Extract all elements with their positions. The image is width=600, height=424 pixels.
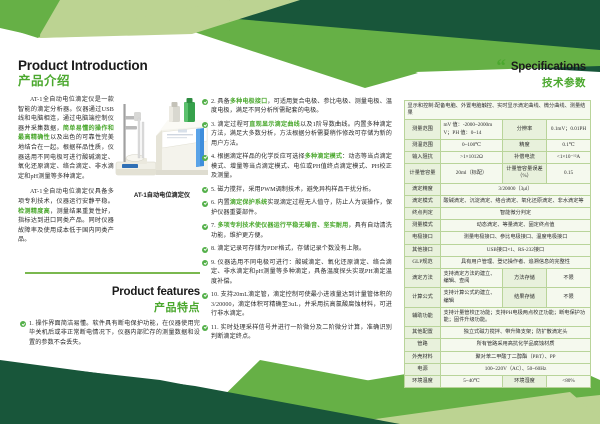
spec-value-cell: 不限: [547, 269, 591, 288]
spec-label-cell: 方法存储: [503, 269, 547, 288]
list-item: 4. 根据滴定样品的化学反应可选择多种滴定模式：动态等当点滴定模式、增量等当点滴…: [202, 153, 392, 181]
list-item: 8. 滴定记录可存储为PDF格式，存储记录个数没有上限。: [202, 245, 392, 254]
spec-value-cell: 支持计量管校正功能；支持PH电极两点校正功能；断电保护功能；固件升级功能。: [441, 307, 591, 326]
specs-table-rows: 测量范围mV 值：-2000~2000mV；PH 值：0~14分辨率0.1mV；…: [405, 120, 591, 388]
specs-note-cell: 显示和控制:配备电脑、外置电脑触控、实时显示滴定曲线、微分曲线、测量结果: [405, 101, 591, 120]
feature-item-8: 8. 滴定记录可存储为PDF格式，存储记录个数没有上限。: [211, 245, 392, 254]
table-row: GLP规范具有用户管理、登记操作者、追溯信息的完整性: [405, 256, 591, 268]
table-row: 测量范围mV 值：-2000~2000mV；PH 值：0~14分辨率0.1mV；…: [405, 120, 591, 139]
check-circle-icon: [20, 321, 26, 327]
spec-label-cell: 计算公式: [405, 288, 441, 307]
specifications-heading: “ Specifications 技术参数: [404, 60, 590, 91]
spec-label-cell: 分辨率: [503, 120, 547, 139]
spec-value-cell: mV 值：-2000~2000mV；PH 值：0~14: [441, 120, 503, 139]
check-circle-icon: [202, 224, 208, 230]
intro-p1-b: 以及出色的可靠性完美地结合在一起。根据样品性质，仪器选用不同电极可进行酸碱滴定、…: [18, 135, 114, 179]
spec-value-cell: 所有管路采用高抗化学品腐蚀材质: [441, 339, 591, 351]
feature-item-3: 3. 滴定过程可直观显示滴定曲线以及1阶导数曲线。内置多种滴定方法，满足大多数分…: [211, 121, 392, 149]
spec-label-cell: 外壳材料: [405, 351, 441, 363]
spec-value-cell: 0.1℃: [547, 139, 591, 151]
spec-value-cell: 具有用户管理、登记操作者、追溯信息的完整性: [441, 256, 591, 268]
table-row: 电源100~220V（AC）、50~60Hz: [405, 363, 591, 375]
product-photo: [112, 96, 212, 188]
table-row: 滴定精度3/20000（3μl）: [405, 183, 591, 195]
features-divider: [25, 272, 200, 274]
check-circle-icon: [202, 247, 208, 253]
spec-value-cell: 聚对苯二甲酸丁二醇酯（PBT）、PP: [441, 351, 591, 363]
deco-bottom-light2: [340, 392, 600, 424]
feature-item-10: 10. 支持20mL滴定管，滴定控制可使最小进液量达到计量管体积的3/20000…: [211, 291, 392, 319]
table-row: 滴定方法支持滴定方法的建立、编辑、查阅方法存储不限: [405, 269, 591, 288]
spec-label-cell: 终点判定: [405, 208, 441, 220]
table-row: 显示和控制:配备电脑、外置电脑触控、实时显示滴定曲线、微分曲线、测量结果: [405, 101, 591, 120]
check-circle-icon: [202, 201, 208, 207]
feature-item-6: 6. 内置滴定保护系统实现滴定过程无人值守，防止人为误操作，保护仪器重要部件。: [211, 199, 392, 218]
intro-paragraph-2: AT-1全自动电位滴定仪具备多项专利技术，仪器运行安静平稳。检测精度高，测量结果…: [18, 188, 114, 246]
table-row: 滴定模式酸碱滴定、沉淀滴定、络合滴定、氧化还原滴定、非水滴定等: [405, 195, 591, 207]
table-row: 测量模式动态滴定、等量滴定、固定终点值: [405, 220, 591, 232]
check-circle-icon: [202, 122, 208, 128]
table-row: 计算公式支持计算公式的建立、编辑结果存储不限: [405, 288, 591, 307]
spec-label-cell: 电源: [405, 363, 441, 375]
spec-label-cell: 结果存储: [503, 288, 547, 307]
table-row: 电极接口测量电极接口、参比电极接口、温度电极接口: [405, 232, 591, 244]
intro-title-cn: 产品介绍: [18, 74, 200, 89]
table-row: 测温范围0~100℃精度0.1℃: [405, 139, 591, 151]
list-item: 5. 磁力搅拌，采用PWM调制技术，避免异构样品干扰分析。: [202, 186, 392, 195]
table-row: 辅助功能支持计量管校正功能；支持PH电极两点校正功能；断电保护功能；固件升级功能…: [405, 307, 591, 326]
spec-label-cell: 其他配置: [405, 327, 441, 339]
spec-value-cell: 支持滴定方法的建立、编辑、查阅: [441, 269, 503, 288]
spec-value-cell: >1×1012Ω: [441, 152, 503, 164]
deco-bottom-light: [330, 395, 600, 424]
table-row: 管路所有管路采用高抗化学品腐蚀材质: [405, 339, 591, 351]
features-title-en: Product features: [18, 285, 200, 300]
table-row: 终点判定智能微分判定: [405, 208, 591, 220]
product-photo-caption: AT-1自动电位滴定仪: [112, 190, 212, 199]
deco-top-green2: [188, 14, 418, 88]
list-item: 3. 滴定过程可直观显示滴定曲线以及1阶导数曲线。内置多种滴定方法，满足大多数分…: [202, 121, 392, 149]
spec-label-cell: 测量模式: [405, 220, 441, 232]
spec-value-cell: 3/20000（3μl）: [441, 183, 591, 195]
feature-item-5: 5. 磁力搅拌，采用PWM调制技术，避免异构样品干扰分析。: [211, 186, 392, 195]
table-row: 其他接口USB接口×1、RS-232接口: [405, 244, 591, 256]
spec-label-cell: 环境湿度: [503, 376, 547, 388]
intro-p2-highlight: 检测精度高: [18, 209, 50, 215]
spec-label-cell: 环境温度: [405, 376, 441, 388]
specs-table-body: 显示和控制:配备电脑、外置电脑触控、实时显示滴定曲线、微分曲线、测量结果: [405, 101, 591, 120]
specifications-section: “ Specifications 技术参数 显示和控制:配备电脑、外置电脑触控、…: [404, 60, 590, 388]
intro-body: AT-1全自动电位滴定仪是一款智能的滴定分析器。仪器通过USB线和电脑相连，通过…: [18, 96, 114, 182]
list-item: 9. 仪器选用不同电极可进行：酸碱滴定、氧化还原滴定、络合滴定、非水滴定和pH测…: [202, 259, 392, 287]
table-row: 外壳材料聚对苯二甲酸丁二醇酯（PBT）、PP: [405, 351, 591, 363]
list-item: 7. 多项专利技术使仪器运行平稳无噪音、坚实耐用，具有自动清洗功能，维护更方便。: [202, 222, 392, 241]
spec-label-cell: 精度: [503, 139, 547, 151]
table-row: 输入阻抗>1×1012Ω补偿电流<1×10⁻¹²A: [405, 152, 591, 164]
feature-item-1-text: 1. 操作界面简洁易懂。软件具有断电保护功能，在仪器使用完毕关机后或非正常断电情…: [29, 320, 200, 348]
list-item: 10. 支持20mL滴定管，滴定控制可使最小进液量达到计量管体积的3/20000…: [202, 291, 392, 319]
features-title-cn: 产品特点: [18, 301, 200, 316]
spec-value-cell: 测量电极接口、参比电极接口、温度电极接口: [441, 232, 591, 244]
spec-label-cell: 滴定精度: [405, 183, 441, 195]
table-row: 计量管容量20ml（标配）计量管容量误差（%）0.15: [405, 164, 591, 183]
feature-item-2: 2. 具备多种电极接口，可适用复合电极、参比电极、测量电极、温度电极，满足不同分…: [211, 98, 392, 117]
deco-bottom-dark2: [0, 362, 390, 424]
spec-label-cell: 测量范围: [405, 120, 441, 139]
spec-label-cell: 计量管容量误差（%）: [503, 164, 547, 183]
spec-value-cell: 0.1mV；0.01PH: [547, 120, 591, 139]
spec-value-cell: 支持计算公式的建立、编辑: [441, 288, 503, 307]
spec-value-cell: <80%: [547, 376, 591, 388]
spec-label-cell: 电极接口: [405, 232, 441, 244]
intro-p2-a: AT-1全自动电位滴定仪具备多项专利技术，仪器运行安静平稳。: [18, 189, 114, 205]
list-item: 1. 操作界面简洁易懂。软件具有断电保护功能，在仪器使用完毕关机后或非正常断电情…: [20, 320, 200, 348]
deco-top-leftgreen2: [0, 0, 42, 37]
feature-item-11: 11. 实时处理采样信号并进行一阶微分及二阶微分计算，准确识别判断滴定终点。: [211, 324, 392, 343]
titrator-instrument-illustration: [112, 96, 212, 188]
check-circle-icon: [202, 293, 208, 299]
features-list-middle: 2. 具备多种电极接口，可适用复合电极、参比电极、测量电极、温度电极，满足不同分…: [202, 98, 392, 347]
deco-top-leftgreen: [0, 0, 60, 38]
product-features-heading: Product features 产品特点: [18, 285, 200, 316]
spec-label-cell: 滴定方法: [405, 269, 441, 288]
table-row: 其他配置独立式磁力搅拌、带升降支架；防扩散滴定头: [405, 327, 591, 339]
check-circle-icon: [202, 260, 208, 266]
check-circle-icon: [202, 99, 208, 105]
spec-label-cell: 输入阻抗: [405, 152, 441, 164]
specifications-table: 显示和控制:配备电脑、外置电脑触控、实时显示滴定曲线、微分曲线、测量结果 测量范…: [404, 100, 591, 388]
feature-item-9: 9. 仪器选用不同电极可进行：酸碱滴定、氧化还原滴定、络合滴定、非水滴定和pH测…: [211, 259, 392, 287]
spec-value-cell: 0.15: [547, 164, 591, 183]
list-item: 2. 具备多种电极接口，可适用复合电极、参比电极、测量电极、温度电极，满足不同分…: [202, 98, 392, 117]
spec-label-cell: 补偿电流: [503, 152, 547, 164]
check-circle-icon: [202, 155, 208, 161]
brochure-page: Product Introduction 产品介绍 AT-1全自动电位滴定仪是一…: [0, 0, 600, 424]
intro-paragraph-1: AT-1全自动电位滴定仪是一款智能的滴定分析器。仪器通过USB线和电脑相连，通过…: [18, 96, 114, 182]
specs-title-cn: 技术参数: [511, 76, 586, 91]
spec-label-cell: 辅助功能: [405, 307, 441, 326]
spec-value-cell: 智能微分判定: [441, 208, 591, 220]
spec-value-cell: 5~40℃: [441, 376, 503, 388]
feature-item-7: 7. 多项专利技术使仪器运行平稳无噪音、坚实耐用，具有自动清洗功能，维护更方便。: [211, 222, 392, 241]
deco-top-lightgreen2: [38, 0, 300, 38]
spec-label-cell: 滴定模式: [405, 195, 441, 207]
spec-value-cell: <1×10⁻¹²A: [547, 152, 591, 164]
spec-label-cell: 其他接口: [405, 244, 441, 256]
feature-item-4: 4. 根据滴定样品的化学反应可选择多种滴定模式：动态等当点滴定模式、增量等当点滴…: [211, 153, 392, 181]
intro-title-en: Product Introduction: [18, 58, 200, 73]
deco-bottom-dark: [0, 360, 400, 424]
deco-top-dark: [210, 0, 600, 68]
spec-value-cell: 不限: [547, 288, 591, 307]
spec-value-cell: 20ml（标配）: [441, 164, 503, 183]
spec-value-cell: USB接口×1、RS-232接口: [441, 244, 591, 256]
spec-value-cell: 100~220V（AC）、50~60Hz: [441, 363, 591, 375]
specs-title-en: Specifications: [511, 60, 586, 75]
spec-value-cell: 独立式磁力搅拌、带升降支架；防扩散滴定头: [441, 327, 591, 339]
intro-body-2: AT-1全自动电位滴定仪具备多项专利技术，仪器运行安静平稳。检测精度高，测量结果…: [18, 188, 114, 246]
check-circle-icon: [202, 187, 208, 193]
spec-label-cell: 计量管容量: [405, 164, 441, 183]
list-item: 6. 内置滴定保护系统实现滴定过程无人值守，防止人为误操作，保护仪器重要部件。: [202, 199, 392, 218]
list-item: 11. 实时处理采样信号并进行一阶微分及二阶微分计算，准确识别判断滴定终点。: [202, 324, 392, 343]
spec-value-cell: 0~100℃: [441, 139, 503, 151]
check-circle-icon: [202, 325, 208, 331]
spec-label-cell: GLP规范: [405, 256, 441, 268]
table-row: 环境温度5~40℃环境湿度<80%: [405, 376, 591, 388]
quote-mark-icon: “: [496, 60, 506, 73]
features-list-left: 1. 操作界面简洁易懂。软件具有断电保护功能，在仪器使用完毕关机后或非正常断电情…: [20, 320, 200, 352]
spec-label-cell: 管路: [405, 339, 441, 351]
spec-value-cell: 动态滴定、等量滴定、固定终点值: [441, 220, 591, 232]
deco-top-lightgreen: [36, 0, 230, 38]
spec-label-cell: 测温范围: [405, 139, 441, 151]
spec-value-cell: 酸碱滴定、沉淀滴定、络合滴定、氧化还原滴定、非水滴定等: [441, 195, 591, 207]
